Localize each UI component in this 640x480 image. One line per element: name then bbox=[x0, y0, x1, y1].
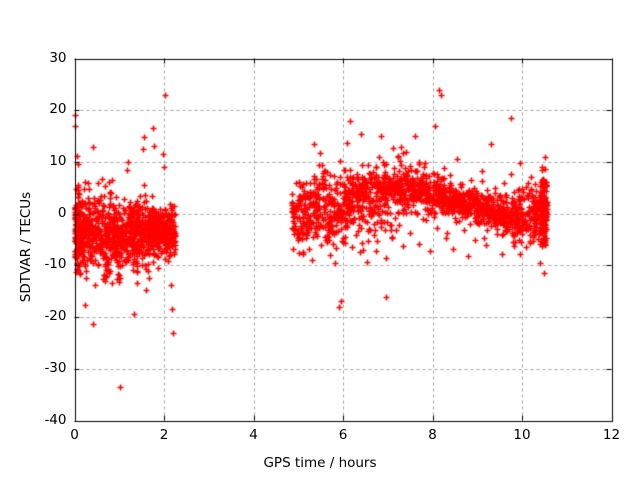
x-tick-label: 0 bbox=[50, 427, 100, 443]
y-tick-label: 20 bbox=[49, 101, 66, 117]
y-tick-label: 30 bbox=[49, 50, 66, 66]
x-tick-label: 12 bbox=[587, 427, 637, 443]
x-tick-label: 10 bbox=[497, 427, 547, 443]
y-tick-label: -40 bbox=[44, 412, 66, 428]
x-tick-label: 6 bbox=[318, 427, 368, 443]
y-tick-label: 0 bbox=[58, 205, 67, 221]
y-axis-label: SDTVAR / TECUs bbox=[18, 167, 34, 327]
x-tick-label: 2 bbox=[139, 427, 189, 443]
x-tick-label: 8 bbox=[408, 427, 458, 443]
y-tick-label: -20 bbox=[44, 308, 66, 324]
y-tick-label: 10 bbox=[49, 153, 66, 169]
chart-root: Day 257 of 2011, Sidereal Day-to-day VTE… bbox=[0, 0, 640, 480]
scatter-plot-canvas bbox=[0, 0, 640, 480]
x-tick-label: 4 bbox=[229, 427, 279, 443]
y-tick-label: -10 bbox=[44, 256, 66, 272]
x-axis-label: GPS time / hours bbox=[0, 455, 640, 471]
y-tick-label: -30 bbox=[44, 360, 66, 376]
